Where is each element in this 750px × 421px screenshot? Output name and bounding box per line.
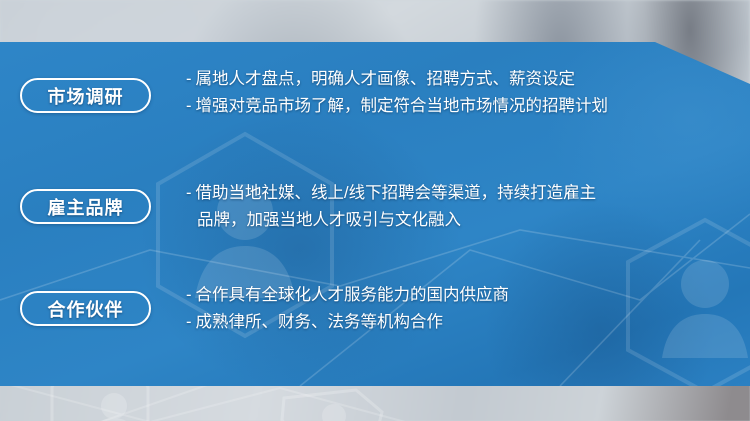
bullet-dash: - — [186, 313, 192, 331]
bullet-line: -属地人才盘点，明确人才画像、招聘方式、薪资设定 — [186, 66, 746, 93]
bullet-text: 借助当地社媒、线上/线下招聘会等渠道，持续打造雇主 — [196, 184, 597, 202]
bullet-line: 品牌，加强当地人才吸引与文化融入 — [186, 207, 746, 234]
section-bullets: -借助当地社媒、线上/线下招聘会等渠道，持续打造雇主 品牌，加强当地人才吸引与文… — [186, 180, 746, 234]
bullet-dash: - — [186, 70, 192, 88]
bullet-line: -合作具有全球化人才服务能力的国内供应商 — [186, 282, 746, 309]
bullet-dash: - — [186, 184, 192, 202]
bullet-text: 成熟律所、财务、法务等机构合作 — [196, 313, 444, 331]
section-pill-employer-brand[interactable]: 雇主品牌 — [20, 189, 151, 224]
bullet-text: 合作具有全球化人才服务能力的国内供应商 — [196, 286, 510, 304]
bullet-text: 属地人才盘点，明确人才画像、招聘方式、薪资设定 — [196, 70, 576, 88]
bullet-dash: - — [186, 97, 192, 115]
section-bullets: -属地人才盘点，明确人才画像、招聘方式、薪资设定 -增强对竞品市场了解，制定符合… — [186, 66, 746, 120]
connector-lines — [0, 384, 420, 421]
section-bullets: -合作具有全球化人才服务能力的国内供应商 -成熟律所、财务、法务等机构合作 — [186, 282, 746, 336]
slide-canvas: 市场调研 -属地人才盘点，明确人才画像、招聘方式、薪资设定 -增强对竞品市场了解… — [0, 0, 750, 421]
content-rows: 市场调研 -属地人才盘点，明确人才画像、招聘方式、薪资设定 -增强对竞品市场了解… — [0, 0, 750, 386]
section-pill-partners[interactable]: 合作伙伴 — [20, 291, 151, 326]
pill-label: 雇主品牌 — [48, 194, 124, 220]
bullet-line: -借助当地社媒、线上/线下招聘会等渠道，持续打造雇主 — [186, 180, 746, 207]
lower-light-band — [0, 384, 750, 421]
bullet-text: 增强对竞品市场了解，制定符合当地市场情况的招聘计划 — [196, 97, 609, 115]
bullet-line: -成熟律所、财务、法务等机构合作 — [186, 309, 746, 336]
pill-label: 市场调研 — [48, 83, 124, 109]
bullet-dash: - — [186, 286, 192, 304]
bullet-line: -增强对竞品市场了解，制定符合当地市场情况的招聘计划 — [186, 93, 746, 120]
bullet-text: 品牌，加强当地人才吸引与文化融入 — [197, 211, 461, 229]
section-pill-market-research[interactable]: 市场调研 — [20, 78, 151, 113]
pill-label: 合作伙伴 — [48, 296, 124, 322]
